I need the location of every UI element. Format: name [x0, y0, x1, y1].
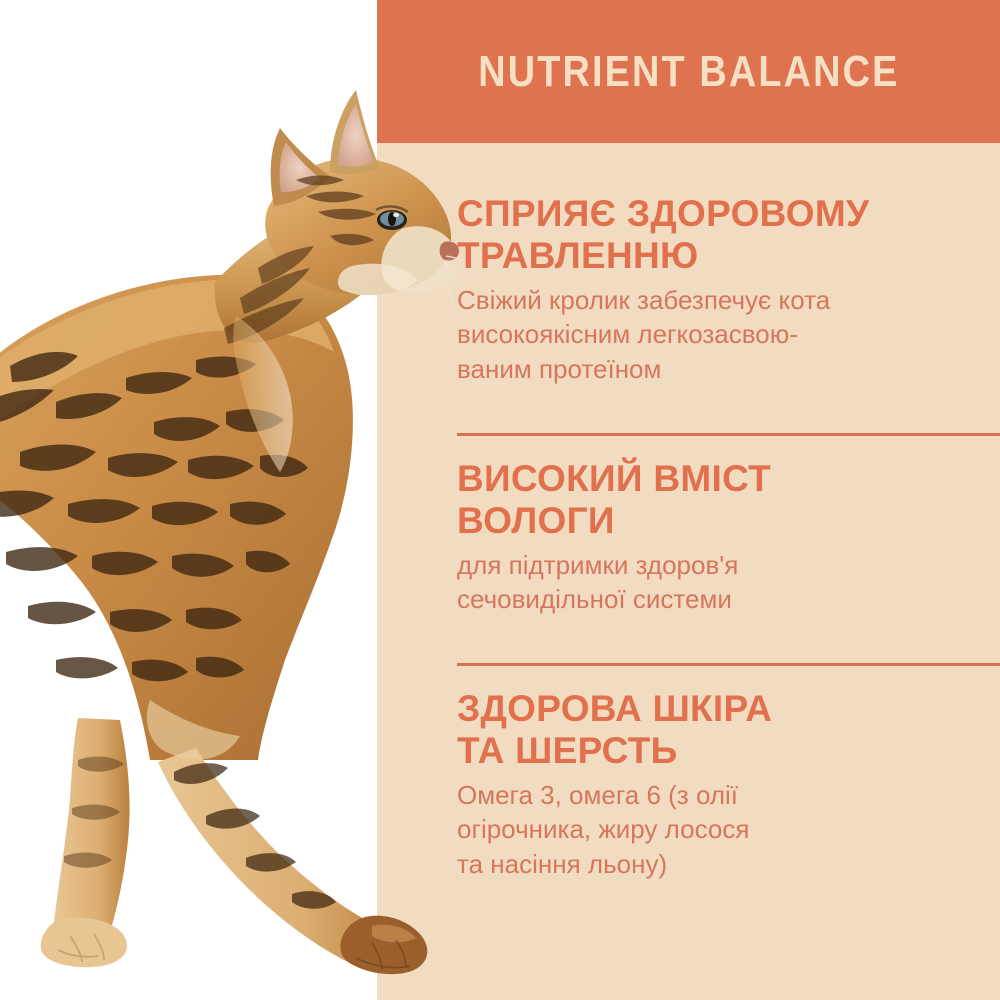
benefit-body: для підтримки здоров'я сечовидільної сис…	[457, 548, 977, 617]
benefit-heading: ВИСОКИЙ ВМІСТ ВОЛОГИ	[457, 458, 977, 542]
bengal-cat-image	[0, 60, 470, 1000]
header-band: NUTRIENT BALANCE	[377, 0, 1000, 143]
benefit-item-skin-coat: ЗДОРОВА ШКІРА ТА ШЕРСТЬ Омега 3, омега 6…	[457, 688, 977, 881]
page-title: NUTRIENT BALANCE	[478, 47, 899, 97]
benefit-heading: ЗДОРОВА ШКІРА ТА ШЕРСТЬ	[457, 688, 977, 772]
benefit-item-digestion: СПРИЯЄ ЗДОРОВОМУ ТРАВЛЕННЮ Свіжий кролик…	[457, 193, 977, 386]
promo-banner: NUTRIENT BALANCE СПРИЯЄ ЗДОРОВОМУ ТРАВЛЕ…	[0, 0, 1000, 1000]
section-divider	[457, 433, 1000, 436]
benefit-body: Омега 3, омега 6 (з олії огірочника, жир…	[457, 778, 977, 882]
benefit-body: Свіжий кролик забезпечує кота високоякіс…	[457, 283, 977, 387]
benefit-heading: СПРИЯЄ ЗДОРОВОМУ ТРАВЛЕННЮ	[457, 193, 977, 277]
section-divider	[457, 663, 1000, 666]
benefits-list: СПРИЯЄ ЗДОРОВОМУ ТРАВЛЕННЮ Свіжий кролик…	[457, 143, 1000, 1000]
benefit-item-moisture: ВИСОКИЙ ВМІСТ ВОЛОГИ для підтримки здоро…	[457, 458, 977, 617]
